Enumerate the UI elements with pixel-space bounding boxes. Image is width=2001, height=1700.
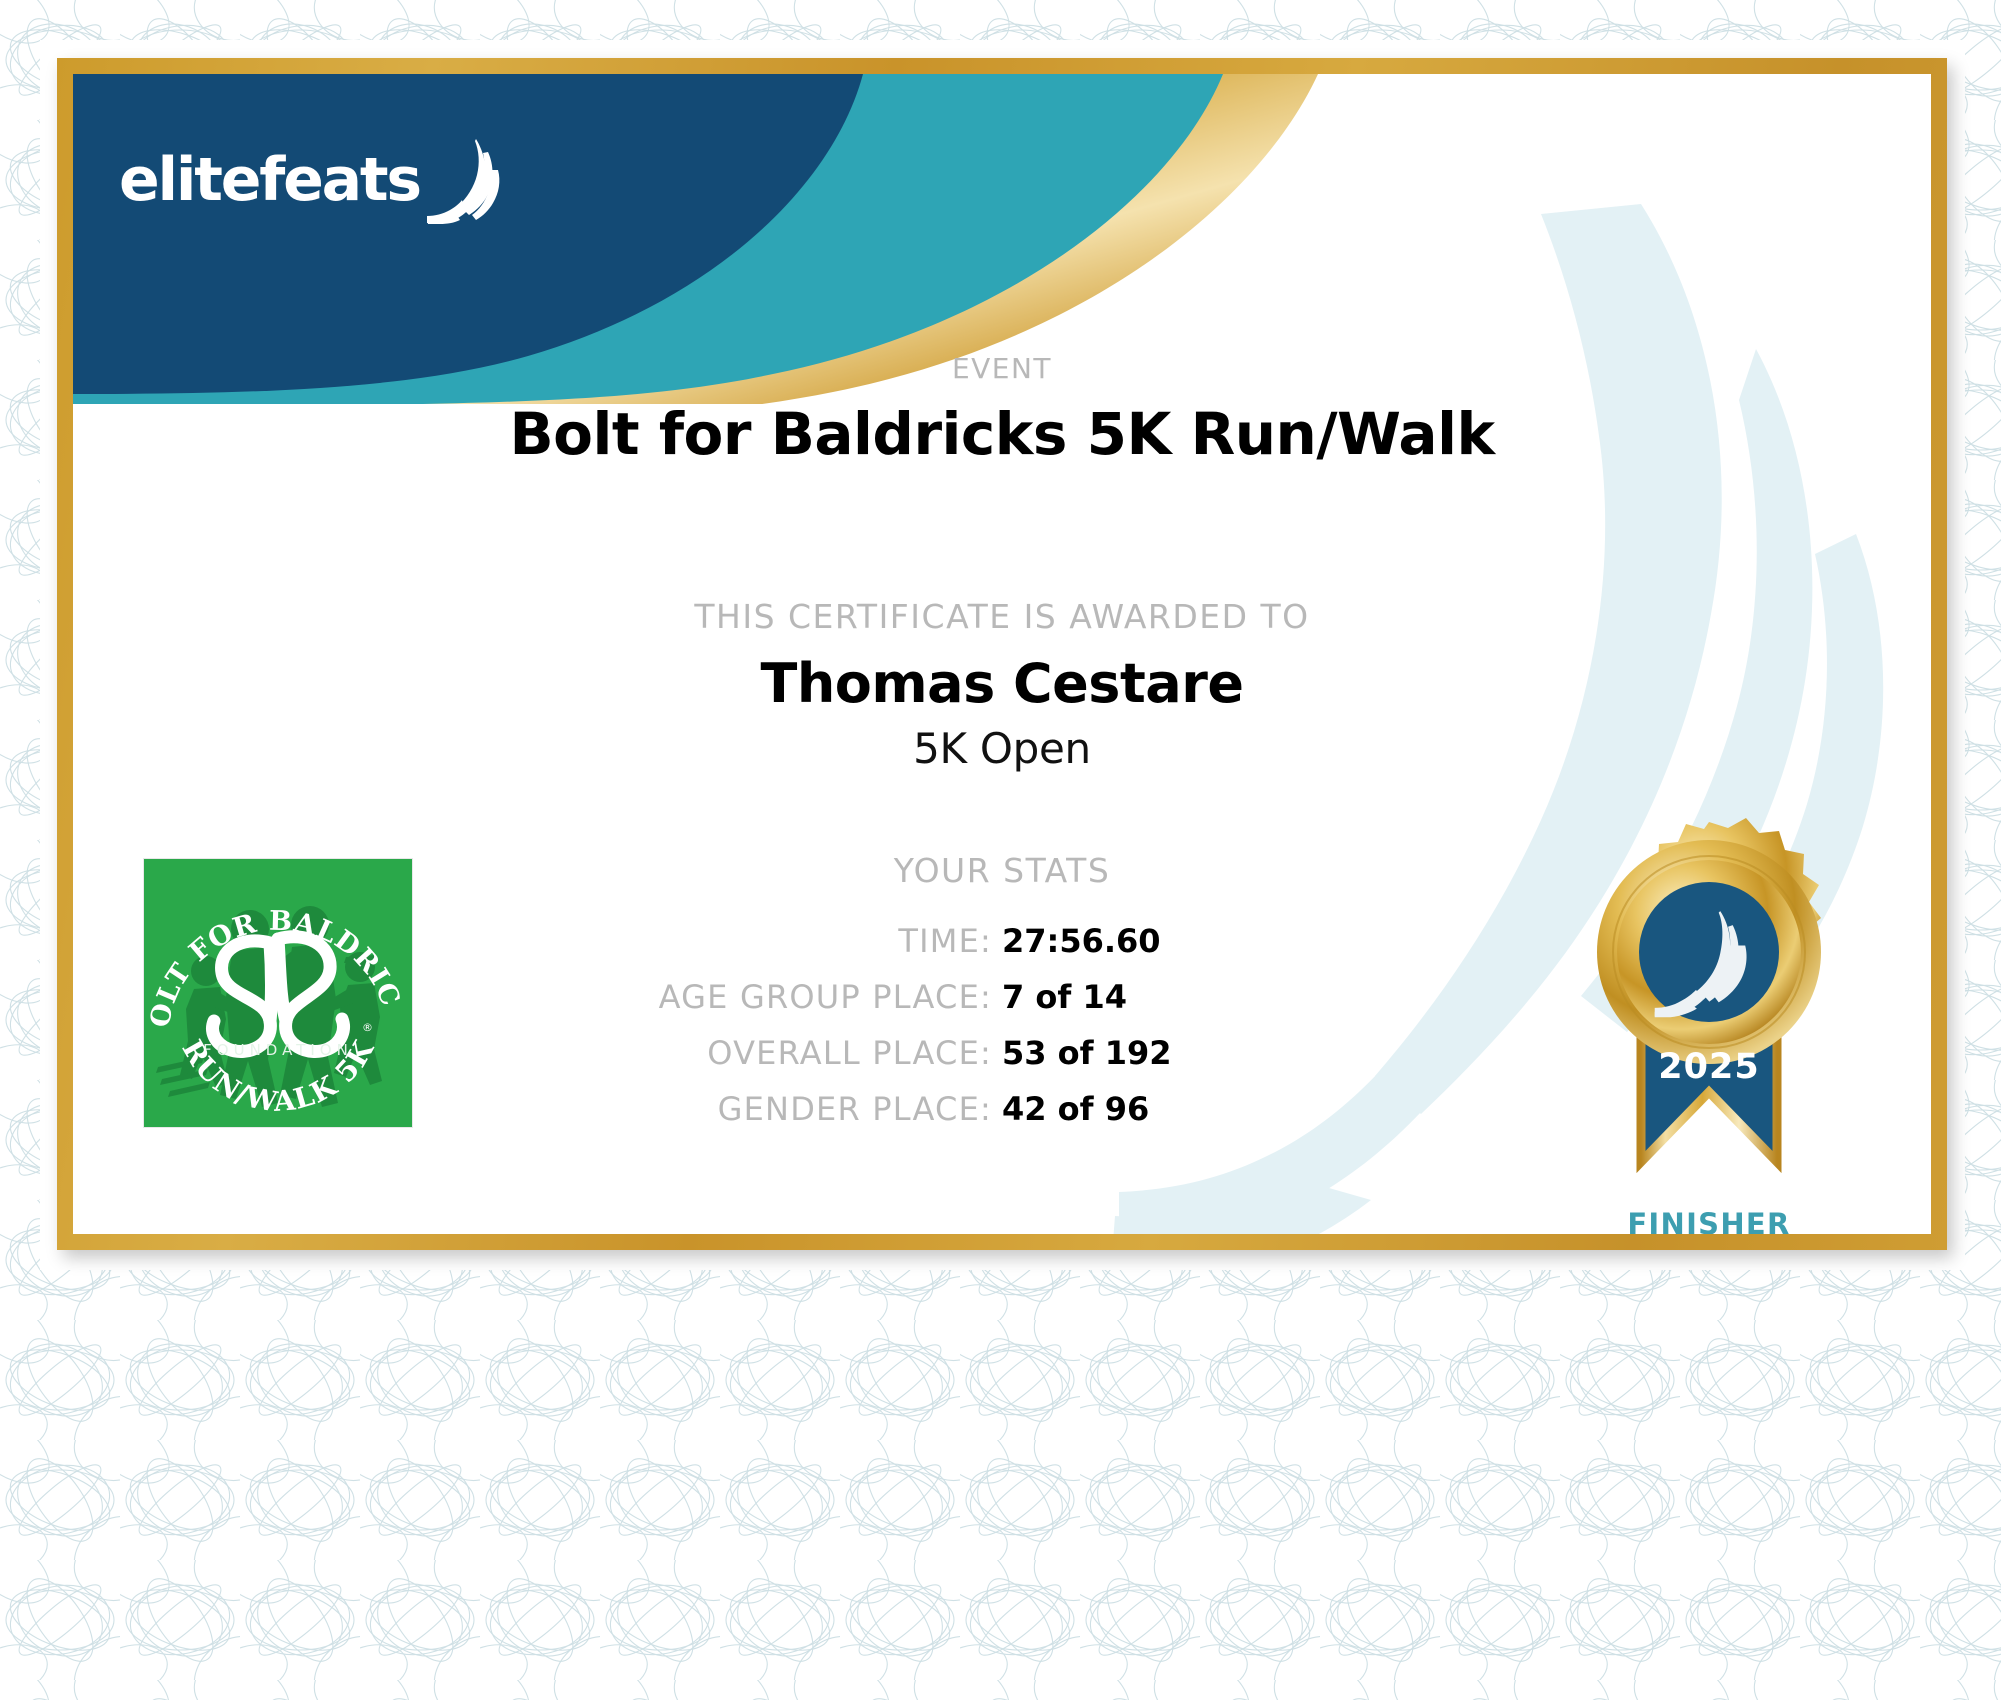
medal-year: 2025 (1658, 1047, 1759, 1087)
bolt-for-baldricks-logo-art: ® FOUNDATION BOLT FOR BALDRICKS RUN/WALK… (144, 859, 412, 1127)
stat-label-age-group-place: AGE GROUP PLACE: (552, 978, 1002, 1016)
winged-foot-icon (424, 136, 502, 224)
finisher-caption-line1: FINISHER (1569, 1208, 1849, 1234)
stat-value-age-group-place: 7 of 14 (1002, 978, 1452, 1016)
certificate-inner-surface: elitefeats EVENT Bolt for Baldricks 5K R… (73, 74, 1931, 1234)
stat-row-age-group-place: AGE GROUP PLACE: 7 of 14 (552, 978, 1452, 1016)
stat-value-gender-place: 42 of 96 (1002, 1090, 1452, 1128)
brand-wordmark: elitefeats (119, 150, 420, 210)
finisher-certificate-caption: FINISHER CERTIFICATE (1569, 1208, 1849, 1234)
event-logo: ® FOUNDATION BOLT FOR BALDRICKS RUN/WALK… (143, 858, 413, 1128)
event-logo-subtitle: FOUNDATION (203, 1041, 353, 1059)
registered-mark: ® (362, 1021, 373, 1034)
certificate-card: elitefeats EVENT Bolt for Baldricks 5K R… (57, 58, 1947, 1250)
event-label: EVENT (73, 352, 1931, 385)
medal-ribbon-graphic: 2025 (1569, 802, 1849, 1202)
finisher-medal-badge: 2025 FINISHER CERTIFICATE (1569, 802, 1849, 1234)
stat-row-time: TIME: 27:56.60 (552, 922, 1452, 960)
stat-value-time: 27:56.60 (1002, 922, 1452, 960)
awarded-to-label: THIS CERTIFICATE IS AWARDED TO (73, 597, 1931, 636)
elitefeats-logo: elitefeats (119, 136, 502, 224)
stat-row-overall-place: OVERALL PLACE: 53 of 192 (552, 1034, 1452, 1072)
stat-label-overall-place: OVERALL PLACE: (552, 1034, 1002, 1072)
certificate-page: elitefeats EVENT Bolt for Baldricks 5K R… (0, 0, 2001, 1700)
stat-label-gender-place: GENDER PLACE: (552, 1090, 1002, 1128)
stat-value-overall-place: 53 of 192 (1002, 1034, 1452, 1072)
event-name: Bolt for Baldricks 5K Run/Walk (73, 400, 1931, 468)
recipient-division: 5K Open (73, 724, 1931, 773)
stat-label-time: TIME: (552, 922, 1002, 960)
stat-row-gender-place: GENDER PLACE: 42 of 96 (552, 1090, 1452, 1128)
recipient-name: Thomas Cestare (73, 652, 1931, 715)
